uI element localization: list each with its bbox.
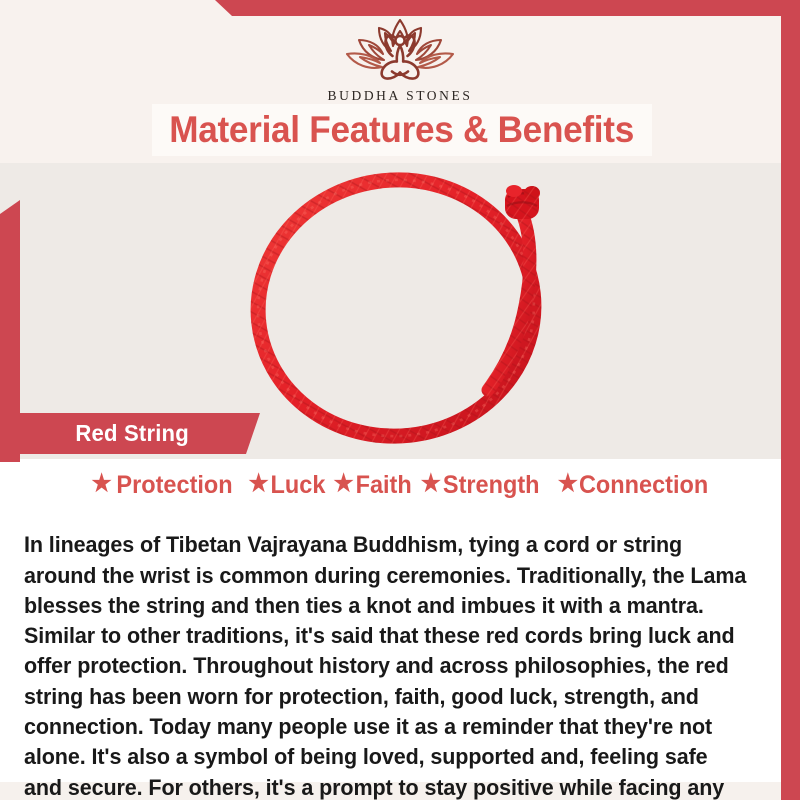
- brand-wordmark: BUDDHA STONES: [0, 88, 800, 104]
- product-description: In lineages of Tibetan Vajrayana Buddhis…: [24, 530, 748, 800]
- feature-label: Faith: [356, 471, 412, 500]
- star-icon: ★: [92, 472, 112, 496]
- lotus-meditation-figure-icon: [341, 16, 459, 86]
- feature-label: Luck: [271, 471, 326, 500]
- product-image: [214, 166, 594, 444]
- product-label: Red String: [75, 420, 189, 447]
- feature-label: Strength: [443, 471, 540, 500]
- feature-label: Connection: [579, 471, 708, 500]
- star-icon: ★: [421, 472, 441, 496]
- star-icon: ★: [558, 472, 578, 496]
- decorative-red-left-strip: [0, 200, 20, 462]
- star-icon: ★: [334, 472, 354, 496]
- feature-item-luck: ★ Luck: [249, 471, 326, 500]
- title-banner: Material Features & Benefits: [152, 104, 652, 156]
- product-label-ribbon: Red String: [20, 413, 260, 454]
- feature-item-strength: ★ Strength: [421, 471, 540, 500]
- feature-label: Protection: [117, 471, 233, 500]
- red-braided-string-bracelet-illustration: [214, 166, 594, 444]
- infographic-page: BUDDHA STONES Material Features & Benefi…: [0, 0, 800, 800]
- decorative-red-right-strip: [781, 0, 800, 800]
- feature-item-protection: ★ Protection: [92, 471, 233, 500]
- feature-item-faith: ★ Faith: [334, 471, 412, 500]
- feature-list: ★ Protection ★ Luck ★ Faith ★ Strength ★…: [20, 464, 780, 506]
- page-title: Material Features & Benefits: [170, 109, 635, 151]
- feature-item-connection: ★ Connection: [558, 471, 708, 500]
- star-icon: ★: [249, 472, 269, 496]
- brand-logo: BUDDHA STONES: [0, 16, 800, 104]
